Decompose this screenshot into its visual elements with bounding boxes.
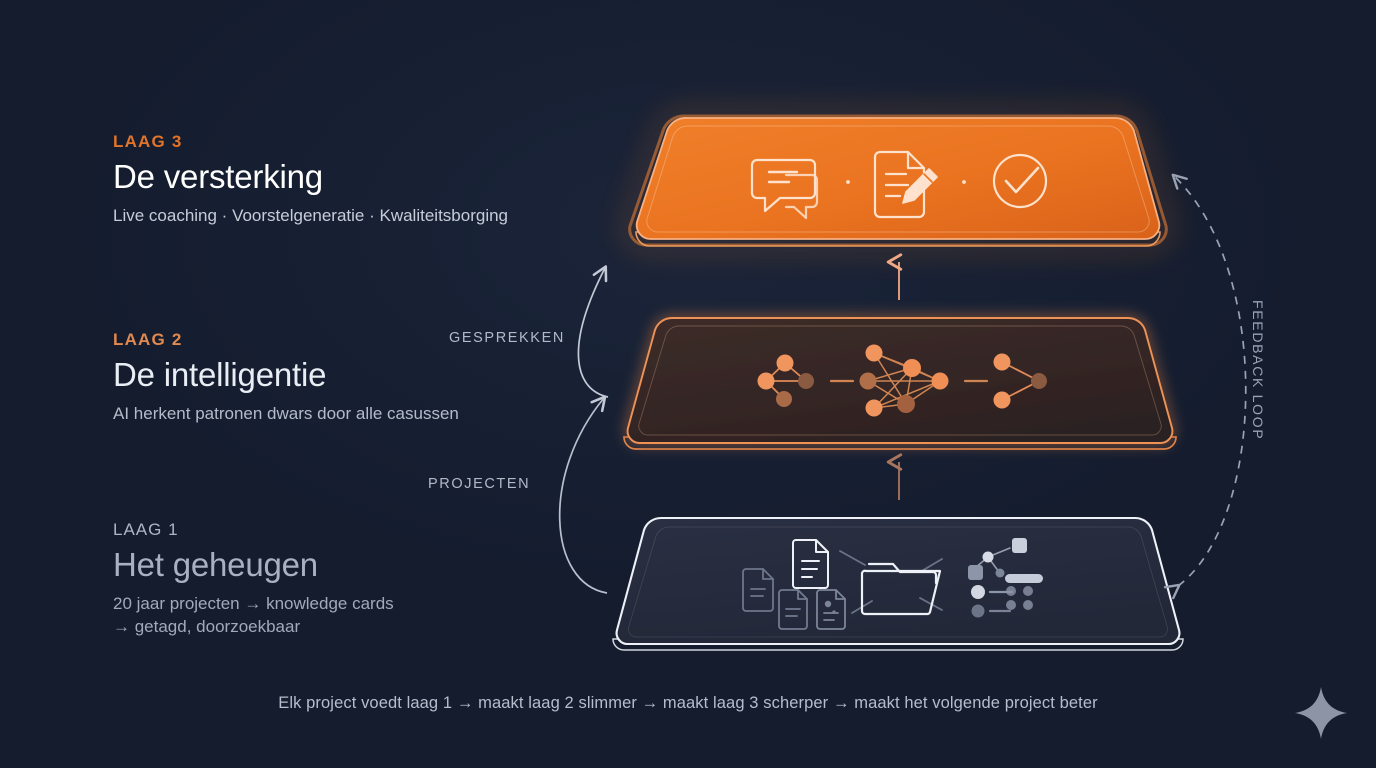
icon-separator-dot [846, 180, 850, 184]
layer1-text-block: LAAG 1 Het geheugen 20 jaar projecten → … [113, 521, 394, 639]
layer3-title: De versterking [113, 156, 508, 197]
layer3-text-block: LAAG 3 De versterking Live coaching · Vo… [113, 133, 508, 228]
layer2-eyebrow: LAAG 2 [113, 331, 459, 350]
footer-caption: Elk project voedt laag 1 → maakt laag 2 … [0, 694, 1376, 713]
feedback-loop-arrow [1174, 176, 1246, 586]
layer1-eyebrow: LAAG 1 [113, 521, 394, 540]
layer3-subtitle: Live coaching · Voorstelgeneratie · Kwal… [113, 205, 508, 228]
layer3-slab [630, 116, 1167, 246]
layer3-eyebrow: LAAG 3 [113, 133, 508, 152]
layer1-subtitle-line1: 20 jaar projecten → knowledge cards [113, 593, 394, 616]
layer1-title: Het geheugen [113, 544, 394, 585]
layer2-title: De intelligentie [113, 354, 459, 395]
label-feedback-loop: FEEDBACK LOOP [1250, 300, 1266, 440]
layer2-subtitle: AI herkent patronen dwars door alle casu… [113, 403, 459, 426]
layer2-slab [624, 318, 1176, 449]
diagram-canvas: LAAG 3 De versterking Live coaching · Vo… [0, 0, 1376, 768]
layer1-subtitle-line2: → getagd, doorzoekbaar [113, 616, 394, 639]
curve-gesprekken [578, 268, 608, 397]
layer1-slab [613, 518, 1183, 650]
curve-projecten [560, 398, 607, 593]
label-projecten: PROJECTEN [428, 476, 530, 492]
icon-separator-dot [962, 180, 966, 184]
layer2-text-block: LAAG 2 De intelligentie AI herkent patro… [113, 331, 459, 426]
label-gesprekken: GESPREKKEN [449, 330, 565, 346]
sparkle-logo [1292, 684, 1350, 742]
